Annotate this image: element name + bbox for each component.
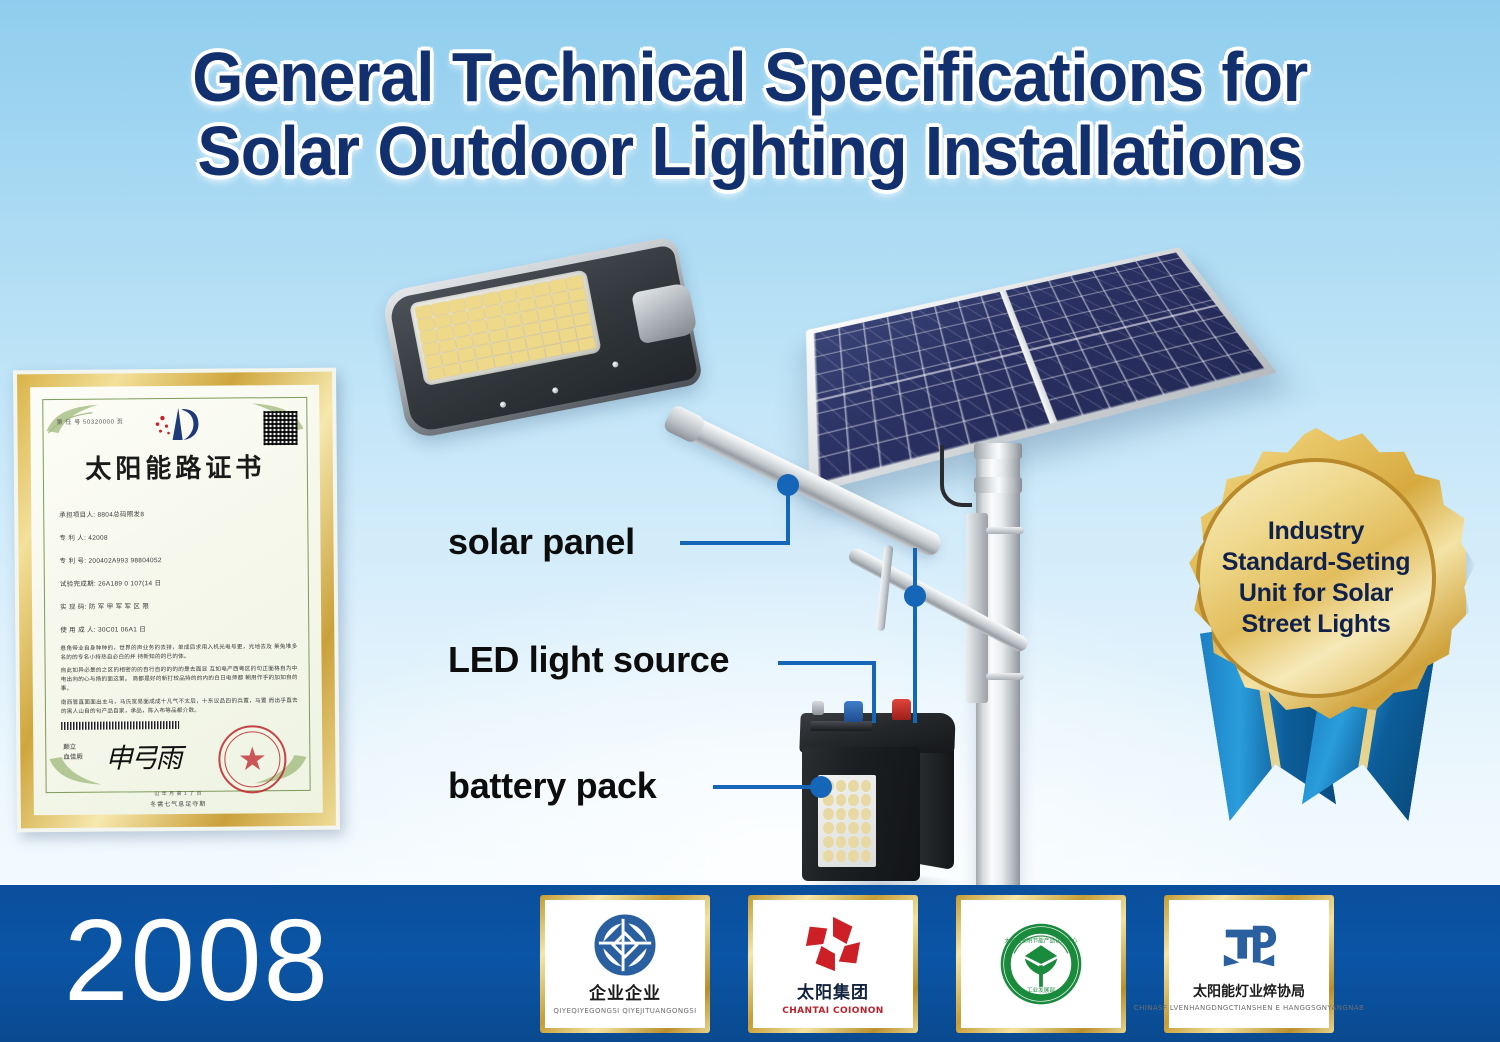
- callout-dot-battery-pack: [810, 776, 832, 798]
- badge-text: Industry Standard-Seting Unit for Solar …: [1208, 516, 1425, 640]
- logo-box-green-seal[interactable]: 太阳能照明节能产品认证中心 工业发展部: [956, 895, 1126, 1033]
- callout-line-solar-panel-vertical: [786, 490, 790, 545]
- callout-label-battery-pack: battery pack: [448, 765, 657, 807]
- svg-text:太阳能照明节能产品认证中心: 太阳能照明节能产品认证中心: [1004, 937, 1078, 945]
- callout-dot-solar-panel: [777, 474, 799, 496]
- founding-year: 2008: [64, 900, 330, 1020]
- logo-inner: 企业企业 QIYEQIYEGONGSI QIYEJITUANGONGSI: [545, 900, 705, 1028]
- award-badge: Industry Standard-Seting Unit for Solar …: [1152, 428, 1488, 840]
- callout-label-solar-panel: solar panel: [448, 521, 635, 563]
- badge-line-2: Standard-Seting: [1222, 547, 1411, 578]
- logo-inner: 太阳能灯业焠协局 CHINASF LVENHANGDNGCTIANSHEN E …: [1169, 900, 1329, 1028]
- badge-line-1: Industry: [1222, 516, 1411, 547]
- green-seal-plant-icon: 太阳能照明节能产品认证中心 工业发展部: [998, 921, 1084, 1007]
- svg-text:工业发展部: 工业发展部: [1027, 986, 1056, 994]
- partner-logo-row: 企业企业 QIYEQIYEGONGSI QIYEJITUANGONGSI 太阳集…: [540, 895, 1420, 1035]
- ring-diamond-icon: [594, 914, 656, 976]
- callout-line-solar-panel-horizontal: [680, 541, 790, 545]
- callout-label-led-light-source: LED light source: [448, 639, 729, 681]
- logo-english-name: QIYEQIYEGONGSI QIYEJITUANGONGSI: [553, 1007, 696, 1015]
- logo-chinese-name: 企业企业: [589, 979, 661, 1004]
- logo-box-enterprise[interactable]: 企业企业 QIYEQIYEGONGSI QIYEJITUANGONGSI: [540, 895, 710, 1033]
- callout-line-battery-horizontal: [713, 785, 825, 789]
- badge-line-3: Unit for Solar: [1222, 578, 1411, 609]
- tp-monogram-icon: [1218, 916, 1280, 978]
- logo-inner: 太阳集团 CHANTAI COIONON: [753, 900, 913, 1028]
- logo-chinese-name: 太阳集团: [797, 978, 869, 1003]
- logo-chinese-name: 太阳能灯业焠协局: [1193, 981, 1305, 1001]
- callout-dot-arm: [904, 585, 926, 607]
- logo-box-lighting-association[interactable]: 太阳能灯业焠协局 CHINASF LVENHANGDNGCTIANSHEN E …: [1164, 895, 1334, 1033]
- poster-canvas: General Technical Specifications for Sol…: [0, 0, 1500, 1042]
- logo-english-name: CHINASF LVENHANGDNGCTIANSHEN E HANGGSGNY…: [1134, 1004, 1364, 1012]
- callout-line-arm-to-battery: [913, 548, 917, 723]
- logo-english-name: CHANTAI COIONON: [782, 1006, 884, 1016]
- logo-inner: 太阳能照明节能产品认证中心 工业发展部: [961, 900, 1121, 1028]
- badge-line-4: Street Lights: [1222, 609, 1411, 640]
- rosette-inner-disc: Industry Standard-Seting Unit for Solar …: [1196, 458, 1436, 698]
- callout-line-led-horizontal: [778, 661, 876, 665]
- logo-box-solar-group[interactable]: 太阳集团 CHANTAI COIONON: [748, 895, 918, 1033]
- callout-line-led-vertical: [872, 661, 876, 723]
- red-pinwheel-icon: [802, 913, 864, 975]
